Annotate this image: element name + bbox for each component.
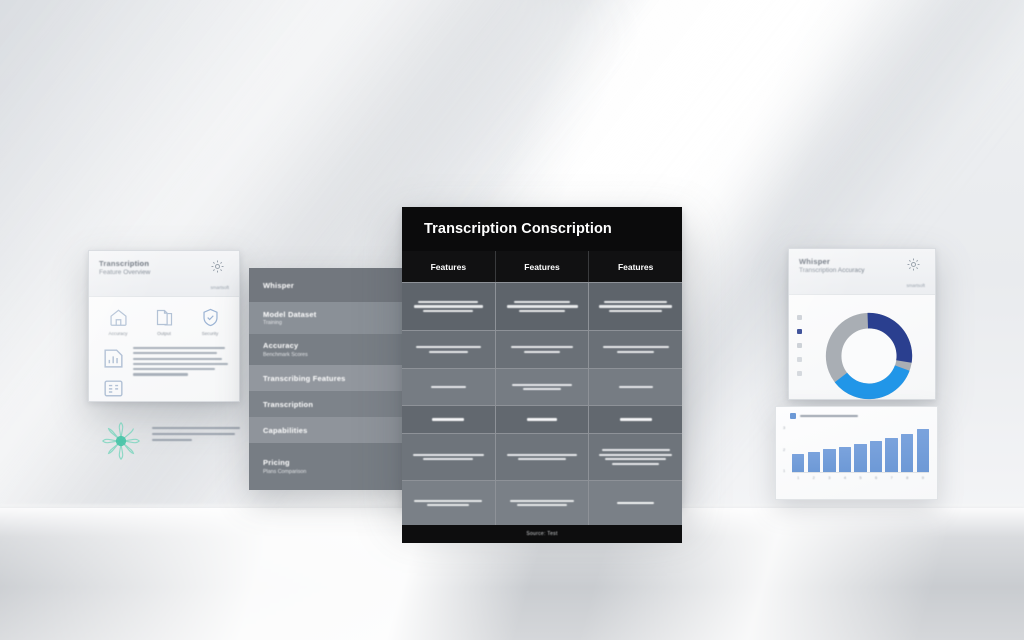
bar-chart-bars[interactable] <box>792 425 929 473</box>
table-cell[interactable] <box>588 406 682 433</box>
y-tick: 3 <box>783 425 785 430</box>
transcription-volume-bar-card[interactable]: 3 2 1 123456789 <box>775 406 938 500</box>
side-row-transcription[interactable]: Transcription <box>249 391 414 417</box>
comparison-table-card[interactable]: Transcription Conscription Features Feat… <box>402 207 682 507</box>
donut-chart-svg <box>817 304 921 408</box>
table-cell[interactable] <box>495 406 589 433</box>
bar[interactable] <box>792 454 804 472</box>
shield-check-icon <box>200 307 221 328</box>
donut-legend-marker[interactable] <box>797 371 802 376</box>
table-row[interactable] <box>402 433 682 480</box>
bar[interactable] <box>854 444 866 472</box>
x-tick: 2 <box>808 475 820 480</box>
donut-card-title-line2: Transcription Accuracy <box>799 267 865 275</box>
table-cell[interactable] <box>588 434 682 480</box>
comparison-side-panel[interactable]: Whisper Model Dataset Training Accuracy … <box>249 268 414 490</box>
feature-item-output[interactable]: Output <box>143 307 185 336</box>
table-cell[interactable] <box>495 331 589 368</box>
bar-chart-y-axis: 3 2 1 <box>783 425 785 473</box>
bar-chart-plot: 3 2 1 123456789 <box>792 425 929 483</box>
document-icon-stack <box>101 346 126 401</box>
side-row-whisper[interactable]: Whisper <box>249 268 414 302</box>
x-tick: 6 <box>870 475 882 480</box>
x-tick: 9 <box>917 475 929 480</box>
left-card-brand: smartsoft <box>210 285 229 290</box>
donut-card-header-right: smartsoft <box>906 257 925 288</box>
table-footer-text: Source: Test <box>526 531 557 537</box>
left-card-header: Transcription Feature Overview smartsoft <box>89 251 239 297</box>
donut-legend[interactable] <box>797 301 811 410</box>
bar[interactable] <box>870 441 882 472</box>
side-row-model-dataset[interactable]: Model Dataset Training <box>249 302 414 334</box>
table-cell[interactable] <box>402 331 495 368</box>
table-cell[interactable] <box>402 369 495 405</box>
list-document-icon[interactable] <box>101 376 126 401</box>
donut-card-brand: smartsoft <box>906 283 925 288</box>
table-cell[interactable] <box>495 481 589 525</box>
x-tick: 5 <box>854 475 866 480</box>
y-tick: 1 <box>783 468 785 473</box>
side-row-title: Whisper <box>263 281 400 290</box>
x-tick: 4 <box>839 475 851 480</box>
table-cell[interactable] <box>402 434 495 480</box>
side-row-transcribing-features[interactable]: Transcribing Features <box>249 365 414 391</box>
side-row-title: Capabilities <box>263 426 400 435</box>
table-column-header[interactable]: Features <box>588 251 682 282</box>
side-row-title: Transcribing Features <box>263 374 400 383</box>
left-card-title: Transcription Feature Overview <box>99 259 150 278</box>
side-row-title: Transcription <box>263 400 400 409</box>
molecule-icon <box>98 418 144 464</box>
x-tick: 7 <box>885 475 897 480</box>
x-tick: 8 <box>901 475 913 480</box>
home-icon <box>108 307 129 328</box>
gear-icon[interactable] <box>906 257 921 272</box>
x-tick: 1 <box>792 475 804 480</box>
gear-icon[interactable] <box>210 259 225 274</box>
bar[interactable] <box>823 449 835 472</box>
bar[interactable] <box>808 452 820 473</box>
left-card-paragraph <box>133 346 229 401</box>
side-row-title: Pricing <box>263 458 400 467</box>
bar[interactable] <box>839 447 851 472</box>
table-column-header[interactable]: Features <box>495 251 589 282</box>
table-cell[interactable] <box>588 331 682 368</box>
donut-card-title-line1: Whisper <box>799 257 865 266</box>
x-tick: 3 <box>823 475 835 480</box>
feature-item-security[interactable]: Security <box>189 307 231 336</box>
table-cell[interactable] <box>588 481 682 525</box>
donut-chart-body <box>789 295 935 410</box>
table-cell[interactable] <box>495 434 589 480</box>
feature-label-output: Output <box>143 331 185 336</box>
feature-overview-card[interactable]: Transcription Feature Overview smartsoft… <box>88 250 240 402</box>
table-cell[interactable] <box>402 406 495 433</box>
table-cell[interactable] <box>495 369 589 405</box>
accuracy-donut-card[interactable]: Whisper Transcription Accuracy smartsoft <box>788 248 936 400</box>
bar-chart-legend[interactable] <box>776 407 937 419</box>
table-row[interactable] <box>402 405 682 433</box>
left-card-title-line2: Feature Overview <box>99 269 150 277</box>
left-card-body <box>89 340 239 401</box>
table-row[interactable] <box>402 330 682 368</box>
donut-legend-marker[interactable] <box>797 343 802 348</box>
donut-legend-marker[interactable] <box>797 357 802 362</box>
donut-card-title: Whisper Transcription Accuracy <box>799 257 865 276</box>
feature-label-accuracy: Accuracy <box>97 331 139 336</box>
molecule-caption-lines <box>152 418 248 464</box>
donut-chart[interactable] <box>811 301 927 410</box>
table-cell[interactable] <box>495 283 589 330</box>
molecule-caption-block <box>98 418 248 464</box>
table-title: Transcription Conscription <box>402 207 682 251</box>
bar-legend-label <box>800 415 858 418</box>
side-row-subtitle: Benchmark Scores <box>263 352 400 358</box>
table-cell[interactable] <box>588 283 682 330</box>
side-row-accuracy[interactable]: Accuracy Benchmark Scores <box>249 334 414 365</box>
feature-label-security: Security <box>189 331 231 336</box>
feature-icon-row: Accuracy Output Security <box>89 297 239 340</box>
side-row-pricing[interactable]: Pricing Plans Comparison <box>249 443 414 490</box>
feature-item-accuracy[interactable]: Accuracy <box>97 307 139 336</box>
chart-document-icon[interactable] <box>101 346 126 371</box>
donut-legend-marker[interactable] <box>797 329 802 334</box>
bar[interactable] <box>901 434 913 472</box>
left-card-header-right: smartsoft <box>210 259 229 290</box>
side-row-title: Model Dataset <box>263 310 400 319</box>
bar[interactable] <box>917 429 929 472</box>
table-cell[interactable] <box>402 283 495 330</box>
table-row[interactable] <box>402 480 682 525</box>
side-row-subtitle: Plans Comparison <box>263 469 400 475</box>
bar-chart-x-axis: 123456789 <box>792 475 929 480</box>
donut-legend-marker[interactable] <box>797 315 802 320</box>
table-row[interactable] <box>402 368 682 405</box>
bar-legend-marker <box>790 413 796 419</box>
table-cell[interactable] <box>402 481 495 525</box>
y-tick: 2 <box>783 447 785 452</box>
pages-icon <box>154 307 175 328</box>
bar[interactable] <box>885 438 897 472</box>
table-cell[interactable] <box>588 369 682 405</box>
table-column-header[interactable]: Features <box>402 251 495 282</box>
donut-card-header: Whisper Transcription Accuracy smartsoft <box>789 249 935 295</box>
table-row[interactable] <box>402 282 682 330</box>
side-row-subtitle: Training <box>263 320 400 326</box>
table-header-row: Features Features Features <box>402 251 682 282</box>
table-footer: Source: Test <box>402 525 682 543</box>
side-row-capabilities[interactable]: Capabilities <box>249 417 414 443</box>
left-card-title-line1: Transcription <box>99 259 150 268</box>
side-row-title: Accuracy <box>263 341 400 350</box>
